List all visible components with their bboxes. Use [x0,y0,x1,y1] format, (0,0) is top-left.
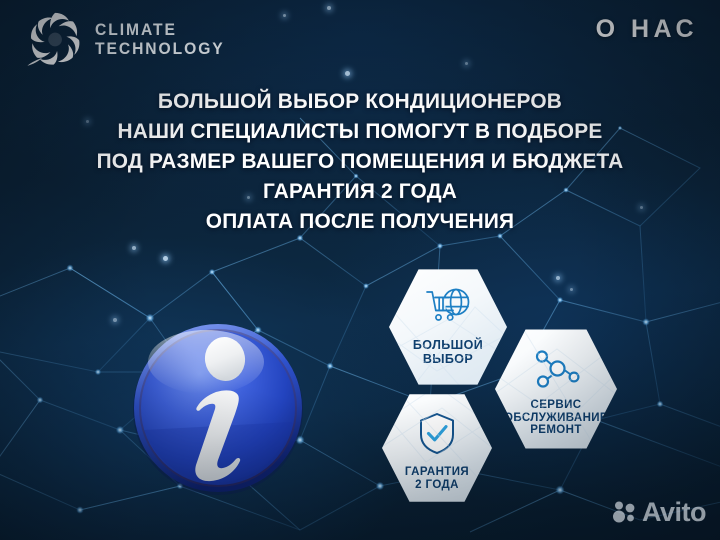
sparkle-dot [570,288,573,291]
shield-check-icon [417,411,457,460]
feature-label-service-line3: РЕМОНТ [504,424,608,437]
shopping-cart-globe-icon [425,287,471,332]
feature-label-choice-line2: ВЫБОР [413,352,483,366]
sparkle-dot [132,246,136,250]
avito-wordmark: Avito [642,497,706,528]
network-nodes-icon [532,348,580,395]
feature-label-warranty-line2: 2 ГОДА [405,479,469,492]
sparkle-dot [345,71,350,76]
headline-line-4: ГАРАНТИЯ 2 ГОДА [11,176,709,206]
sparkle-dot [113,318,117,322]
feature-label-service-line1: СЕРВИС [504,399,608,412]
poster-canvas: CLIMATE TECHNOLOGY О НАС БОЛЬШОЙ ВЫБОР К… [0,0,720,540]
feature-label-warranty: ГАРАНТИЯ 2 ГОДА [405,466,469,492]
headline-line-3: ПОД РАЗМЕР ВАШЕГО ПОМЕЩЕНИЯ И БЮДЖЕТА [11,146,709,176]
feature-label-service-line2: ОБСЛУЖИВАНИЕ [504,412,608,425]
headline-line-2: НАШИ СПЕЦИАЛИСТЫ ПОМОГУТ В ПОДБОРЕ [11,116,709,146]
info-letter-i-icon [128,318,308,498]
avito-dots-icon [611,500,637,526]
brand-name-line2: TECHNOLOGY [95,40,225,57]
sparkle-dot [556,276,560,280]
network-background [0,0,720,540]
feature-label-warranty-line1: ГАРАНТИЯ [405,466,469,479]
section-title: О НАС [596,15,698,44]
avito-watermark: Avito [611,497,706,528]
feature-label-service: СЕРВИС ОБСЛУЖИВАНИЕ РЕМОНТ [504,399,608,438]
headline-line-5: ОПЛАТА ПОСЛЕ ПОЛУЧЕНИЯ [11,206,709,236]
brand-logo[interactable]: CLIMATE TECHNOLOGY [24,8,236,70]
headline-block: БОЛЬШОЙ ВЫБОР КОНДИЦИОНЕРОВ НАШИ СПЕЦИАЛ… [0,86,720,236]
info-badge [128,318,308,498]
feature-label-choice-line1: БОЛЬШОЙ [413,338,483,352]
brand-name: CLIMATE TECHNOLOGY [95,21,236,57]
brand-name-line1: CLIMATE [95,21,225,38]
sparkle-dot [163,256,168,261]
turbine-swirl-icon [24,8,86,70]
headline-line-1: БОЛЬШОЙ ВЫБОР КОНДИЦИОНЕРОВ [11,86,709,116]
feature-label-choice: БОЛЬШОЙ ВЫБОР [413,338,483,366]
page-header: CLIMATE TECHNOLOGY О НАС [0,0,720,70]
